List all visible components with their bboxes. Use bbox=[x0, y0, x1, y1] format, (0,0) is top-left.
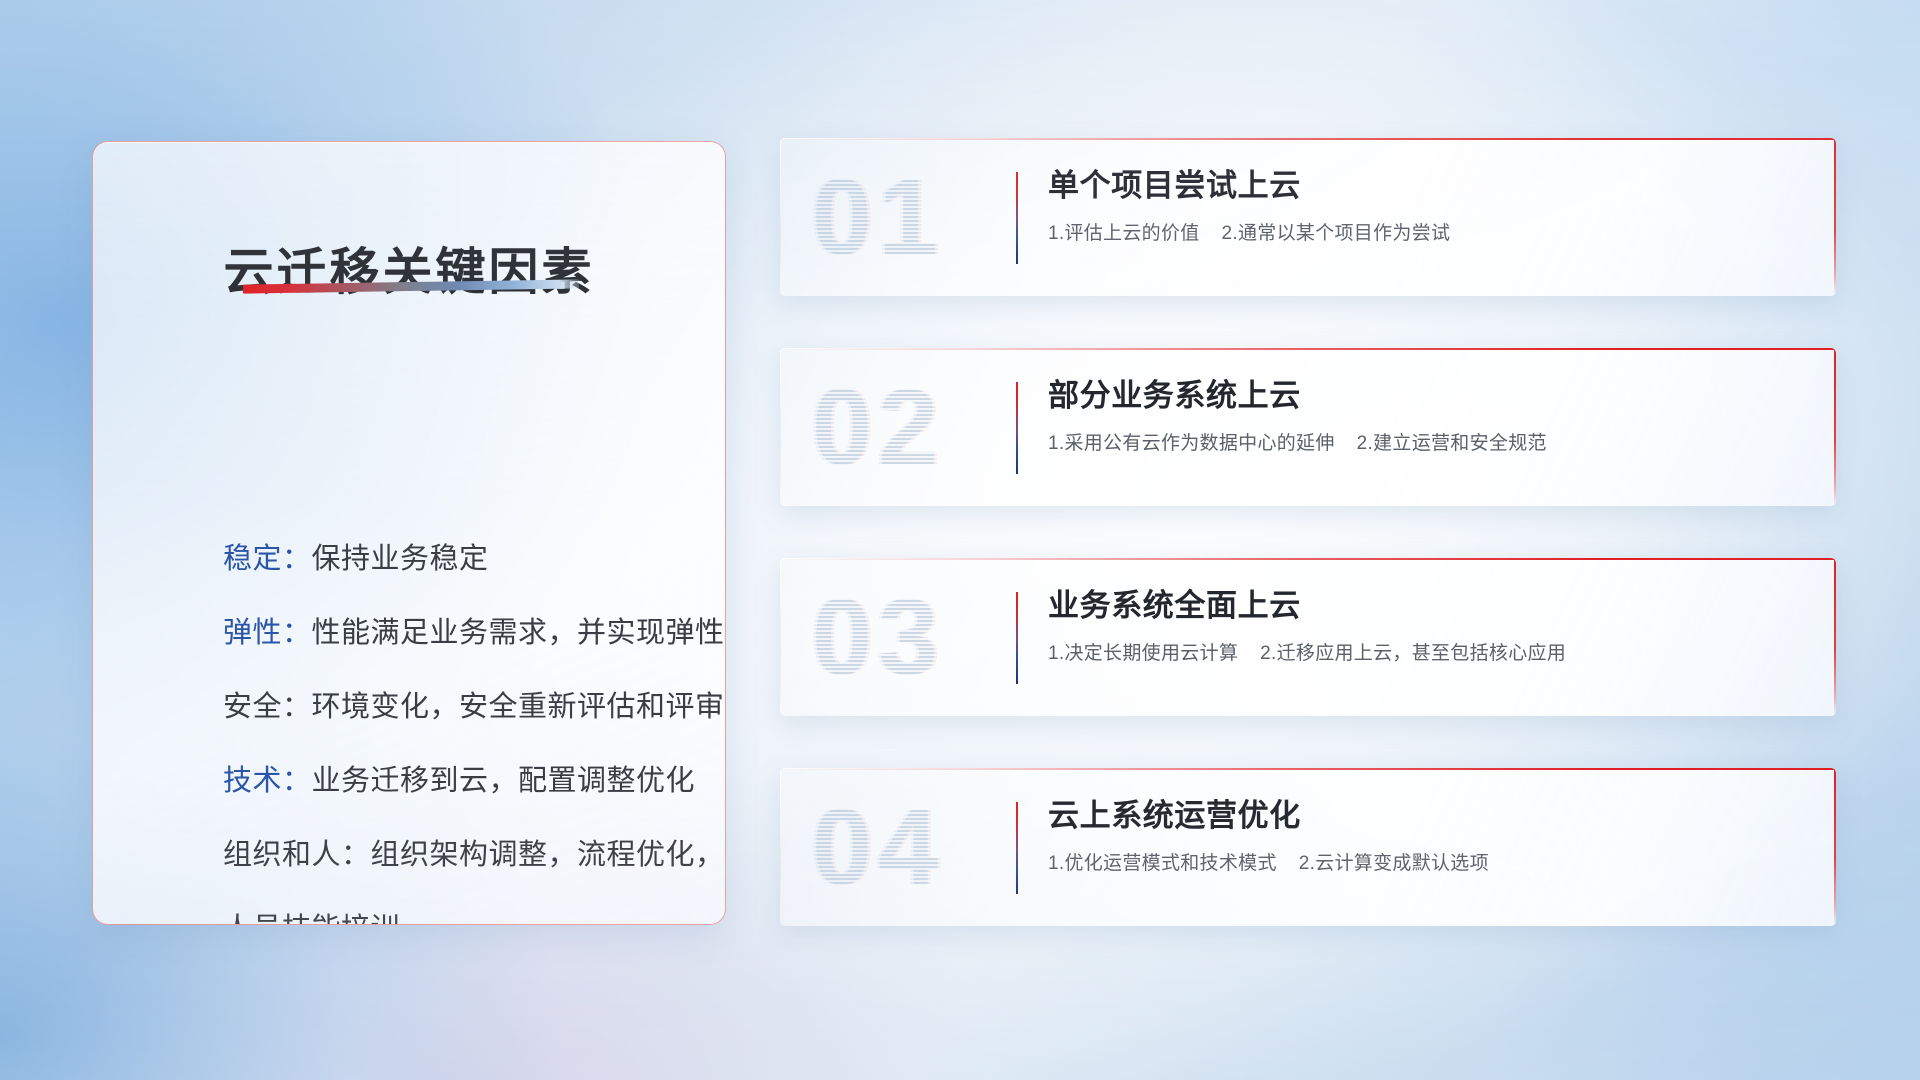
factor-text: 环境变化，安全重新评估和评审 bbox=[312, 691, 725, 723]
stage-number-ghost-blue: 02 bbox=[809, 362, 941, 492]
card-top-accent bbox=[780, 768, 1836, 770]
factor-label: 组织和人： bbox=[223, 839, 371, 871]
card-left-highlight bbox=[780, 768, 781, 926]
card-top-accent bbox=[780, 348, 1836, 350]
card-right-accent bbox=[1834, 558, 1836, 716]
card-right-accent bbox=[1834, 138, 1836, 296]
factor-label: 技术： bbox=[223, 765, 312, 797]
card-point-1: 1.决定长期使用云计算 bbox=[1048, 643, 1238, 664]
card-body: 业务系统全面上云 1.决定长期使用云计算2.迁移应用上云，甚至包括核心应用 bbox=[1048, 584, 1806, 668]
stage-number-ghost-blue: 01 bbox=[809, 152, 941, 282]
card-title: 部分业务系统上云 bbox=[1048, 374, 1806, 418]
factor-list: 稳定：保持业务稳定 弹性：性能满足业务需求，并实现弹性 安全：环境变化，安全重新… bbox=[223, 522, 685, 925]
card-divider-bar bbox=[1016, 382, 1018, 474]
stage-card[interactable]: 04 04 04 云上系统运营优化 1.优化运营模式和技术模式2.云计算变成默认… bbox=[780, 768, 1836, 926]
stage-number-ghost-red: 02 bbox=[815, 362, 947, 492]
panel-glass-sheen bbox=[93, 142, 725, 502]
card-left-highlight bbox=[780, 558, 781, 716]
factor-item: 组织和人：组织架构调整，流程优化， bbox=[223, 818, 685, 892]
factor-item: 技术：业务迁移到云，配置调整优化 bbox=[223, 744, 685, 818]
card-point-2: 2.通常以某个项目作为尝试 bbox=[1222, 223, 1451, 244]
stage-card[interactable]: 02 02 02 部分业务系统上云 1.采用公有云作为数据中心的延伸2.建立运营… bbox=[780, 348, 1836, 506]
key-factors-panel: 云迁移关键因素 稳定：保持业务稳定 弹性：性能满足业务需求，并实现弹性 安全：环… bbox=[92, 141, 726, 925]
factor-text: 组织架构调整，流程优化， bbox=[371, 839, 725, 871]
stage-number-glyph: 01 01 01 bbox=[812, 152, 1042, 282]
stage-number-glyph: 03 03 03 bbox=[812, 572, 1042, 702]
factor-item: 稳定：保持业务稳定 bbox=[223, 522, 685, 596]
card-right-accent bbox=[1834, 348, 1836, 506]
card-body: 部分业务系统上云 1.采用公有云作为数据中心的延伸2.建立运营和安全规范 bbox=[1048, 374, 1806, 458]
stage-number-main: 03 bbox=[812, 572, 944, 702]
stage-number-main: 02 bbox=[812, 362, 944, 492]
card-subtitle: 1.优化运营模式和技术模式2.云计算变成默认选项 bbox=[1048, 850, 1806, 878]
stage-number-ghost-red: 03 bbox=[815, 572, 947, 702]
card-divider-bar bbox=[1016, 172, 1018, 264]
factor-item: 人员技能培训 bbox=[223, 892, 685, 925]
stage-number-ghost-red: 01 bbox=[815, 152, 947, 282]
card-subtitle: 1.采用公有云作为数据中心的延伸2.建立运营和安全规范 bbox=[1048, 430, 1806, 458]
factor-text: 业务迁移到云，配置调整优化 bbox=[312, 765, 696, 797]
stage-number-ghost-red: 04 bbox=[815, 782, 947, 912]
card-body: 单个项目尝试上云 1.评估上云的价值2.通常以某个项目作为尝试 bbox=[1048, 164, 1806, 248]
stage-number-ghost-blue: 04 bbox=[809, 782, 941, 912]
factor-label: 稳定： bbox=[223, 543, 312, 575]
page-title: 云迁移关键因素 bbox=[93, 232, 725, 304]
card-title: 业务系统全面上云 bbox=[1048, 584, 1806, 628]
card-title: 云上系统运营优化 bbox=[1048, 794, 1806, 838]
factor-label: 弹性： bbox=[223, 617, 312, 649]
card-subtitle: 1.评估上云的价值2.通常以某个项目作为尝试 bbox=[1048, 220, 1806, 248]
card-point-1: 1.采用公有云作为数据中心的延伸 bbox=[1048, 433, 1335, 454]
stage-number-glyph: 02 02 02 bbox=[812, 362, 1042, 492]
card-left-highlight bbox=[780, 348, 781, 506]
stage-number-glyph: 04 04 04 bbox=[812, 782, 1042, 912]
card-point-1: 1.优化运营模式和技术模式 bbox=[1048, 853, 1277, 874]
card-point-2: 2.迁移应用上云，甚至包括核心应用 bbox=[1260, 643, 1566, 664]
factor-label: 安全： bbox=[223, 691, 312, 723]
card-body: 云上系统运营优化 1.优化运营模式和技术模式2.云计算变成默认选项 bbox=[1048, 794, 1806, 878]
card-top-accent bbox=[780, 138, 1836, 140]
stage-number-main: 04 bbox=[812, 782, 944, 912]
stage-number-main: 01 bbox=[812, 152, 944, 282]
card-top-accent bbox=[780, 558, 1836, 560]
card-title: 单个项目尝试上云 bbox=[1048, 164, 1806, 208]
factor-item: 弹性：性能满足业务需求，并实现弹性 bbox=[223, 596, 685, 670]
card-point-2: 2.云计算变成默认选项 bbox=[1299, 853, 1489, 874]
stage-number-ghost-blue: 03 bbox=[809, 572, 941, 702]
card-right-accent bbox=[1834, 768, 1836, 926]
card-divider-bar bbox=[1016, 802, 1018, 894]
factor-text: 性能满足业务需求，并实现弹性 bbox=[312, 617, 725, 649]
card-point-1: 1.评估上云的价值 bbox=[1048, 223, 1200, 244]
card-divider-bar bbox=[1016, 592, 1018, 684]
card-point-2: 2.建立运营和安全规范 bbox=[1357, 433, 1547, 454]
stage-card[interactable]: 03 03 03 业务系统全面上云 1.决定长期使用云计算2.迁移应用上云，甚至… bbox=[780, 558, 1836, 716]
factor-item: 安全：环境变化，安全重新评估和评审 bbox=[223, 670, 685, 744]
stage-card[interactable]: 01 01 01 单个项目尝试上云 1.评估上云的价值2.通常以某个项目作为尝试 bbox=[780, 138, 1836, 296]
factor-text: 人员技能培训 bbox=[223, 913, 400, 925]
migration-stage-cards: 01 01 01 单个项目尝试上云 1.评估上云的价值2.通常以某个项目作为尝试… bbox=[780, 138, 1836, 978]
slide-canvas: 云迁移关键因素 稳定：保持业务稳定 弹性：性能满足业务需求，并实现弹性 安全：环… bbox=[0, 0, 1920, 1080]
card-subtitle: 1.决定长期使用云计算2.迁移应用上云，甚至包括核心应用 bbox=[1048, 640, 1806, 668]
factor-text: 保持业务稳定 bbox=[312, 543, 489, 575]
card-left-highlight bbox=[780, 138, 781, 296]
